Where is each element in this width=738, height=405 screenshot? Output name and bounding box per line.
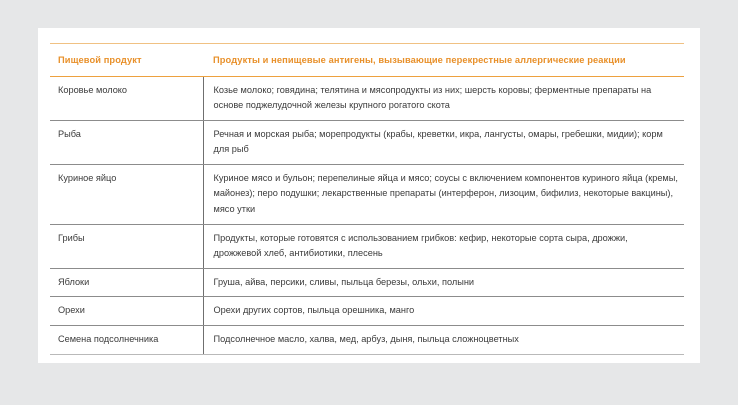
antigens-text: Груша, айва, персики, сливы, пыльца бере…: [204, 269, 685, 297]
row-cell-food: Грибы: [50, 224, 203, 268]
row-cell-antigens: Орехи других сортов, пыльца орешника, ма…: [203, 297, 684, 326]
table-row: Рыба Речная и морская рыба; морепродукты…: [50, 120, 684, 164]
food-label: Коровье молоко: [50, 77, 203, 105]
food-label: Семена подсолнечника: [50, 326, 203, 354]
row-cell-antigens: Козье молоко; говядина; телятина и мясоп…: [203, 76, 684, 120]
row-cell-food: Коровье молоко: [50, 76, 203, 120]
header-label-antigens: Продукты и непищевые антигены, вызывающи…: [203, 53, 684, 68]
antigens-text: Орехи других сортов, пыльца орешника, ма…: [204, 297, 685, 325]
antigens-text: Речная и морская рыба; морепродукты (кра…: [204, 121, 685, 164]
antigens-text: Продукты, которые готовятся с использова…: [204, 225, 685, 268]
row-cell-antigens: Груша, айва, персики, сливы, пыльца бере…: [203, 268, 684, 297]
cross-allergy-table: Пищевой продукт Продукты и непищевые ант…: [50, 43, 684, 355]
table-row: Орехи Орехи других сортов, пыльца орешни…: [50, 297, 684, 326]
header-cell-food: Пищевой продукт: [50, 46, 203, 76]
antigens-text: Подсолнечное масло, халва, мед, арбуз, д…: [204, 326, 685, 354]
food-label: Яблоки: [50, 269, 203, 297]
table-row: Куриное яйцо Куриное мясо и бульон; пере…: [50, 164, 684, 224]
document-card: Пищевой продукт Продукты и непищевые ант…: [38, 28, 700, 363]
food-label: Грибы: [50, 225, 203, 253]
table-row: Яблоки Груша, айва, персики, сливы, пыль…: [50, 268, 684, 297]
row-cell-food: Яблоки: [50, 268, 203, 297]
table-row: Коровье молоко Козье молоко; говядина; т…: [50, 76, 684, 120]
table-row: Грибы Продукты, которые готовятся с испо…: [50, 224, 684, 268]
header-cell-antigens: Продукты и непищевые антигены, вызывающи…: [203, 46, 684, 76]
antigens-text: Куриное мясо и бульон; перепелиные яйца …: [204, 165, 685, 224]
row-cell-antigens: Куриное мясо и бульон; перепелиные яйца …: [203, 164, 684, 224]
food-label: Орехи: [50, 297, 203, 325]
food-label: Куриное яйцо: [50, 165, 203, 193]
row-cell-food: Орехи: [50, 297, 203, 326]
row-cell-antigens: Продукты, которые готовятся с использова…: [203, 224, 684, 268]
table-header-row: Пищевой продукт Продукты и непищевые ант…: [50, 46, 684, 76]
row-cell-food: Куриное яйцо: [50, 164, 203, 224]
food-label: Рыба: [50, 121, 203, 149]
row-cell-food: Рыба: [50, 120, 203, 164]
row-cell-antigens: Речная и морская рыба; морепродукты (кра…: [203, 120, 684, 164]
antigens-text: Козье молоко; говядина; телятина и мясоп…: [204, 77, 685, 120]
row-cell-food: Семена подсолнечника: [50, 326, 203, 355]
table-row: Семена подсолнечника Подсолнечное масло,…: [50, 326, 684, 355]
row-cell-antigens: Подсолнечное масло, халва, мед, арбуз, д…: [203, 326, 684, 355]
header-label-food: Пищевой продукт: [50, 53, 203, 68]
